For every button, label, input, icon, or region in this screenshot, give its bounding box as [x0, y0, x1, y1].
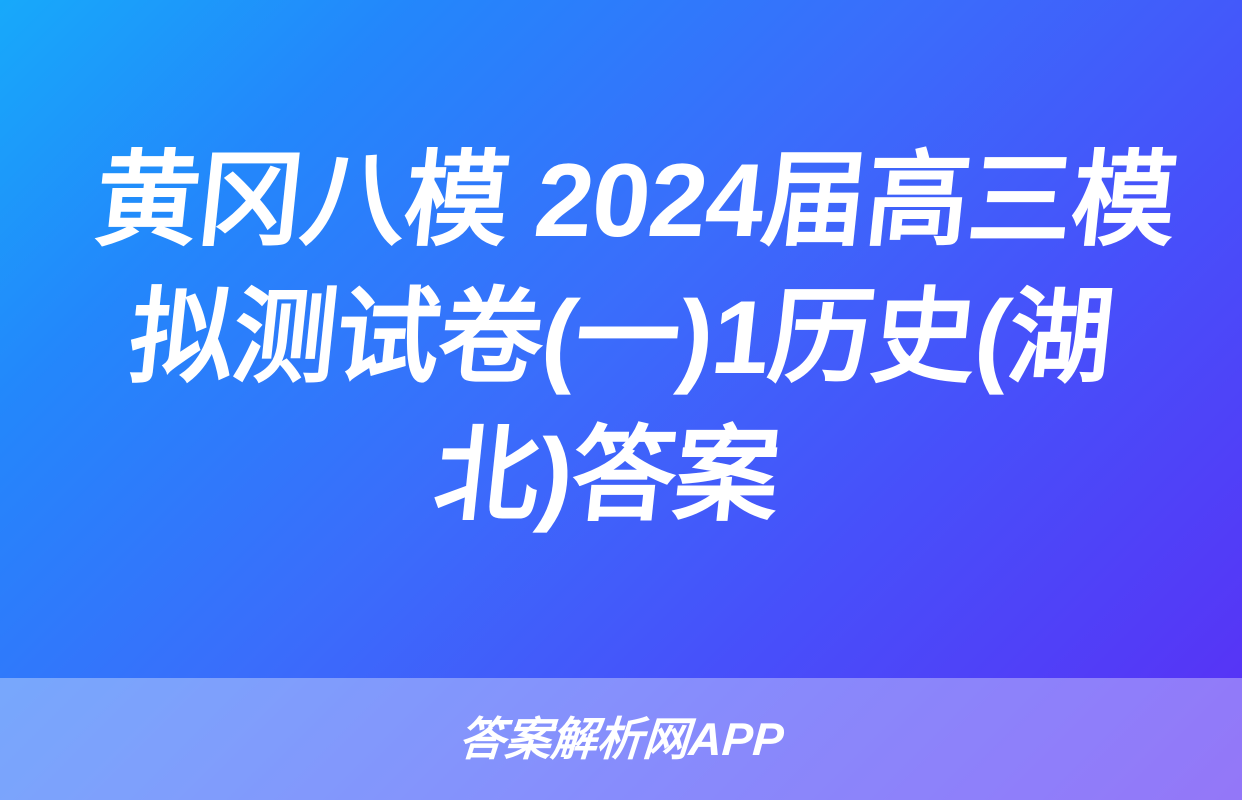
hero-title-region: 黄冈八模 2024届高三模拟测试卷(一)1历史(湖北)答案: [0, 0, 1242, 678]
watermark-label: 答案解析网APP: [457, 716, 785, 762]
page-title: 黄冈八模 2024届高三模拟测试卷(一)1历史(湖北)答案: [48, 133, 1193, 545]
answer-card-stage: 黄冈八模 2024届高三模拟测试卷(一)1历史(湖北)答案 答案解析网APP: [0, 0, 1242, 800]
watermark-band: 答案解析网APP: [0, 678, 1242, 800]
